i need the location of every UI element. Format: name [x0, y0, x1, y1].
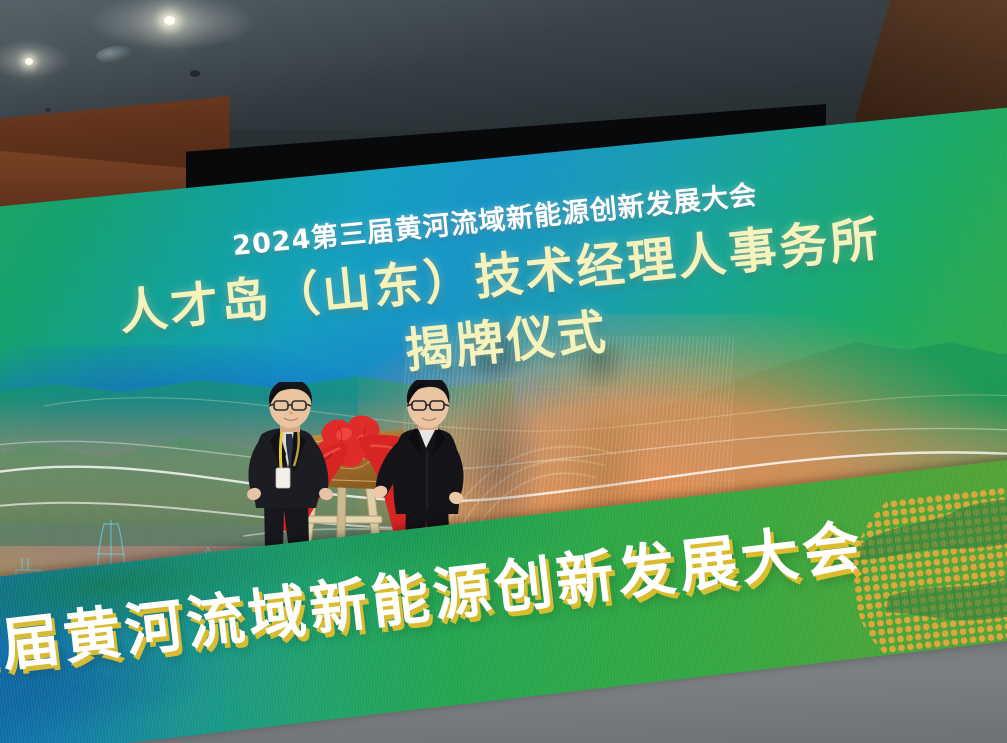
spotlight-icon [25, 58, 33, 65]
ceiling-fixture [45, 108, 51, 112]
photo-scene: 2024第三届黄河流域新能源创新发展大会 人才岛（山东）技术经理人事务所 揭牌仪… [0, 0, 1007, 743]
spotlight-icon [164, 16, 175, 25]
ceiling-fixture [190, 70, 200, 77]
